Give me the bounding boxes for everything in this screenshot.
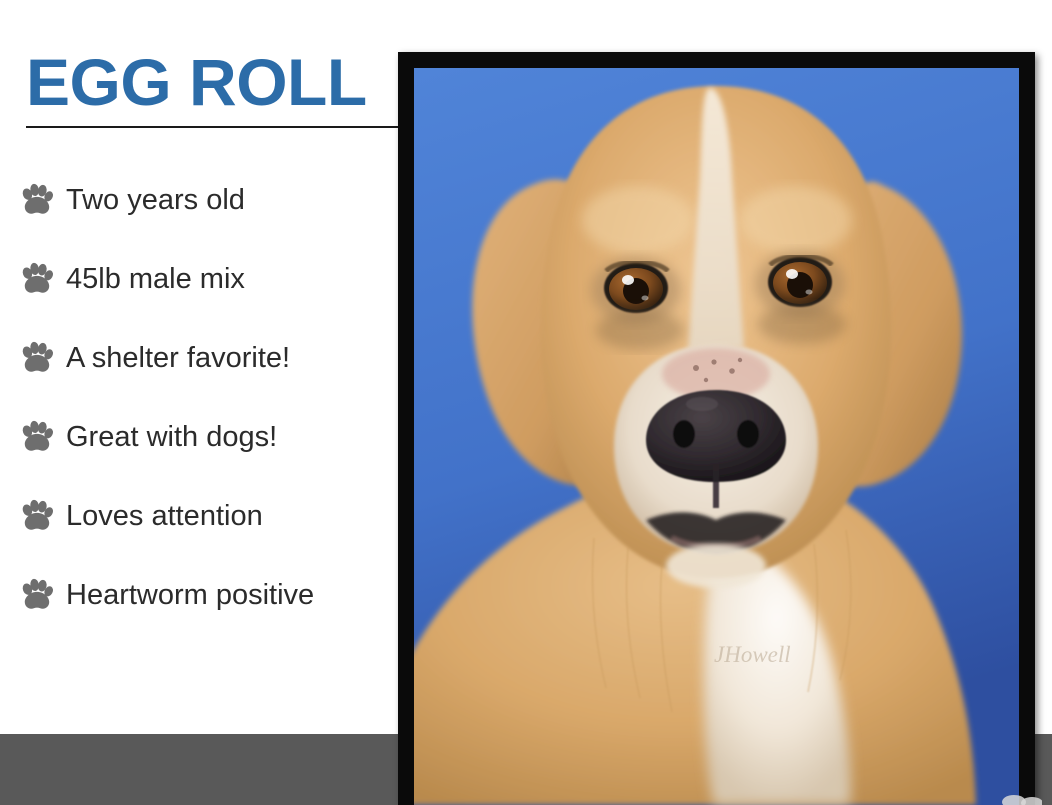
list-item: A shelter favorite! bbox=[20, 318, 398, 397]
paw-print-icon bbox=[20, 341, 54, 375]
corner-graphic-icon bbox=[1002, 788, 1042, 805]
pet-fact-list: Two years old 45lb male mix A shelter fa… bbox=[20, 160, 398, 634]
list-item-label: 45lb male mix bbox=[66, 262, 245, 296]
list-item: 45lb male mix bbox=[20, 239, 398, 318]
list-item-label: Two years old bbox=[66, 183, 245, 217]
paw-print-icon bbox=[20, 183, 54, 217]
paw-print-icon bbox=[20, 578, 54, 612]
paw-print-icon bbox=[20, 262, 54, 296]
pet-info-panel: EGG ROLL Two years old 45lb male mix bbox=[0, 0, 398, 734]
list-item: Great with dogs! bbox=[20, 397, 398, 476]
pet-photo: JHowell bbox=[414, 68, 1019, 805]
list-item-label: Heartworm positive bbox=[66, 578, 314, 612]
page-title: EGG ROLL bbox=[26, 44, 398, 120]
paw-print-icon bbox=[20, 420, 54, 454]
title-divider bbox=[26, 126, 398, 128]
pet-photo-frame: JHowell bbox=[398, 52, 1035, 805]
list-item-label: Great with dogs! bbox=[66, 420, 277, 454]
list-item-label: A shelter favorite! bbox=[66, 341, 290, 375]
list-item-label: Loves attention bbox=[66, 499, 263, 533]
list-item: Two years old bbox=[20, 160, 398, 239]
photo-watermark: JHowell bbox=[714, 642, 791, 667]
list-item: Loves attention bbox=[20, 476, 398, 555]
list-item: Heartworm positive bbox=[20, 555, 398, 634]
paw-print-icon bbox=[20, 499, 54, 533]
dog-portrait-image: JHowell bbox=[414, 68, 1019, 805]
